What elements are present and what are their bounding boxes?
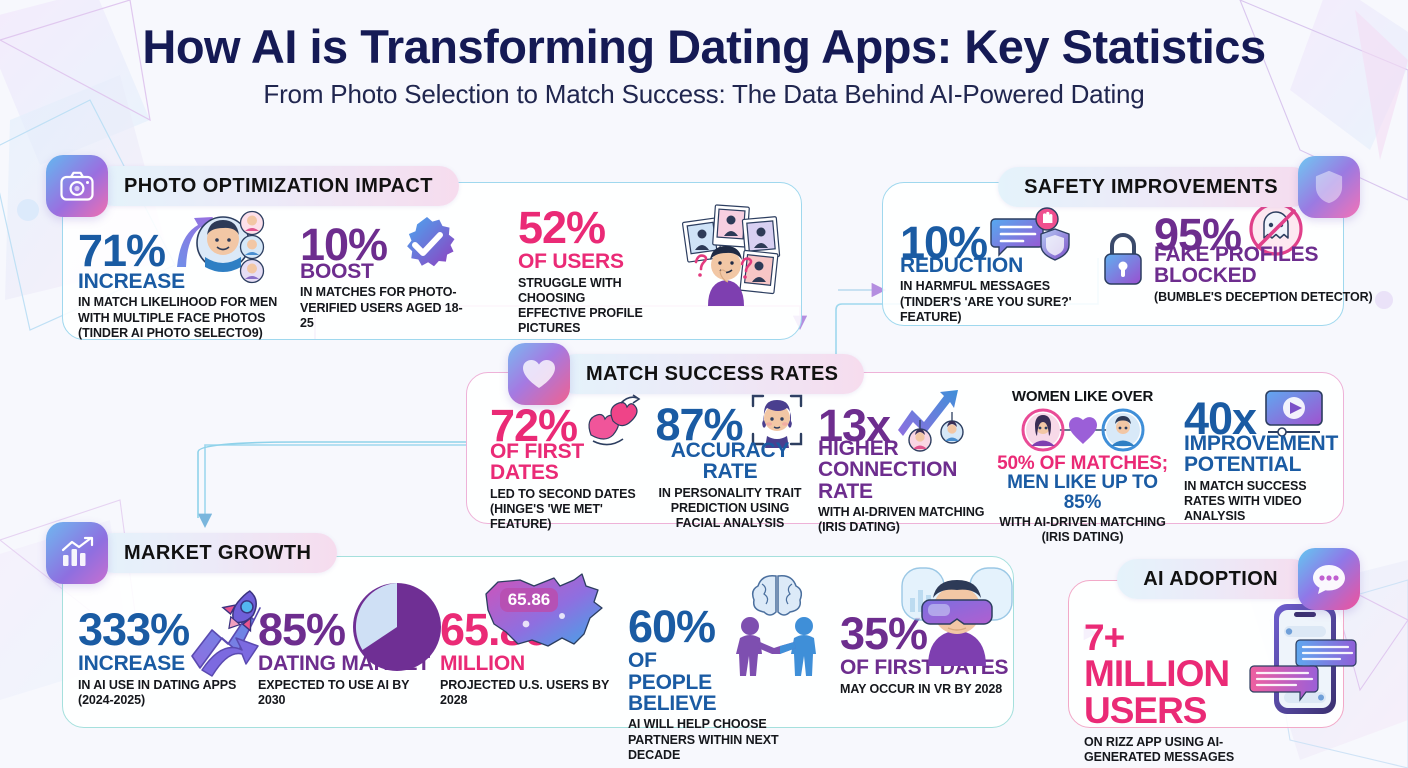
stat-95-fake-profiles-blocked: 95% FAKE PROFILES BLOCKED (BUMBLE'S DECE…: [1100, 212, 1346, 305]
stat-desc-paren: (TINDER'S 'ARE YOU SURE?' FEATURE): [900, 295, 1130, 326]
stat-desc: IN MATCH LIKELIHOOD FOR MEN WITH MULTIPL…: [78, 295, 293, 341]
stat-label: REDUCTION: [900, 255, 1130, 276]
stat-desc-paren: (IRIS DATING): [990, 530, 1175, 545]
confused-person-photos-icon: [650, 202, 780, 307]
stat-13x-connection: 13x HIGHER CONNECTION RATE WITH AI-DRIVE…: [818, 400, 998, 536]
brain-icon: [753, 576, 802, 615]
section-header-safety-improvements[interactable]: SAFETY IMPROVEMENTS: [998, 156, 1360, 218]
stat-value: 71%: [78, 229, 165, 272]
stat-87-accuracy: 87% ACCURACY RATE IN PERSONALITY TRAIT P…: [655, 400, 805, 532]
stat-desc: EXPECTED TO USE AI BY 2030: [258, 678, 423, 709]
stat-desc-text: EXPECTED TO USE AI BY 2030: [258, 678, 409, 707]
stat-desc-text: IN MATCHES FOR PHOTO-VERIFIED USERS AGED…: [300, 285, 463, 330]
stat-desc-paren: (TINDER AI PHOTO SELECTO9): [78, 326, 293, 341]
stat-desc-text: LED TO SECOND DATES: [490, 487, 636, 501]
stat-desc: WITH AI-DRIVEN MATCHING (IRIS DATING): [990, 515, 1175, 546]
handshake-brain-icon: [722, 572, 832, 682]
two-avatars-heart-icon: [1021, 408, 1145, 452]
stat-desc: WITH AI-DRIVEN MATCHING (IRIS DATING): [818, 505, 998, 536]
section-header-match-success-rates[interactable]: MATCH SUCCESS RATES: [508, 343, 864, 405]
stat-72-first-dates: 72% OF FIRST DATES LED TO SECOND DATES (…: [490, 403, 645, 533]
pie-chart-icon: [348, 578, 446, 676]
stat-label: ACCURACY RATE: [655, 440, 805, 483]
stat-desc: IN AI USE IN DATING APPS (2024-2025): [78, 678, 240, 709]
stat-desc: IN MATCHES FOR PHOTO-VERIFIED USERS AGED…: [300, 285, 468, 331]
page-subtitle: From Photo Selection to Match Success: T…: [0, 79, 1408, 110]
section-title-market-growth: MARKET GROWTH: [94, 533, 337, 573]
page-header: How AI is Transforming Dating Apps: Key …: [0, 22, 1408, 110]
stat-desc: LED TO SECOND DATES (HINGE'S 'WE MET' FE…: [490, 487, 645, 533]
phone-chat-icon: [1248, 600, 1358, 718]
section-title-match-success-rates: MATCH SUCCESS RATES: [556, 354, 864, 394]
stat-label: FAKE PROFILES BLOCKED: [1154, 244, 1384, 287]
shield-icon: [1298, 156, 1360, 218]
section-title-ai-adoption: AI ADOPTION: [1117, 559, 1312, 599]
stat-desc: IN PERSONALITY TRAIT PREDICTION USING FA…: [655, 486, 805, 532]
stat-71-increase: 71% INCREASE: [78, 215, 293, 341]
stat-label: MEN LIKE UP TO 85%: [990, 473, 1175, 512]
usa-map-icon: 65.86: [478, 572, 614, 668]
section-title-safety-improvements: SAFETY IMPROVEMENTS: [998, 167, 1312, 207]
stat-desc-text: IN AI USE IN DATING APPS (2024-2025): [78, 678, 236, 707]
stat-52-of-users: 52% OF USERS STRUGGLE WITH CHOOSING EFFE…: [518, 206, 788, 337]
vr-headset-person-icon: [898, 562, 1016, 672]
verified-badge-icon: [397, 215, 457, 275]
stat-7-million-users: 7+ MILLION USERS ON RIZZ APP USING AI-GE…: [1084, 620, 1274, 765]
stat-10-reduction: 10% REDUCTION IN HARMFUL MESSAGES (TINDE…: [900, 215, 1130, 325]
stat-label: BOOST: [300, 261, 490, 282]
page-title: How AI is Transforming Dating Apps: Key …: [0, 22, 1408, 71]
section-title-photo-optimization-impact: PHOTO OPTIMIZATION IMPACT: [94, 166, 459, 206]
stat-desc-text: PROJECTED U.S. USERS BY 2028: [440, 678, 609, 707]
bar-chart-icon: [46, 522, 108, 584]
stat-overline: WOMEN LIKE OVER: [990, 388, 1175, 405]
growth-arrow-avatars-icon: [896, 390, 976, 452]
stat-desc-text: IN MATCH LIKELIHOOD FOR MEN WITH MULTIPL…: [78, 295, 277, 324]
stat-desc-paren: (HINGE'S 'WE MET' FEATURE): [490, 502, 645, 533]
stat-value: 7+ MILLION: [1084, 620, 1274, 691]
stat-desc-text: IN PERSONALITY TRAIT PREDICTION USING FA…: [659, 486, 802, 531]
stat-desc-text: ON RIZZ APP USING AI-GENERATED MESSAGES: [1084, 735, 1234, 764]
stat-desc: STRUGGLE WITH CHOOSING EFFECTIVE PROFILE…: [518, 276, 648, 337]
section-header-photo-optimization-impact[interactable]: PHOTO OPTIMIZATION IMPACT: [46, 155, 459, 217]
stat-desc-text: AI WILL HELP CHOOSE PARTNERS WITHIN NEXT…: [628, 717, 779, 762]
stat-10-boost: 10% BOOST IN MATCHES FOR PHOTO-VERIFIED …: [300, 215, 490, 331]
stat-value: 50% OF MATCHES;: [990, 454, 1175, 473]
map-badge-label: 65.86: [508, 590, 551, 609]
stat-women-like-over: WOMEN LIKE OVER 50% OF MATCHES; MEN LIKE…: [990, 388, 1175, 546]
heart-icon: [508, 343, 570, 405]
section-header-ai-adoption[interactable]: AI ADOPTION: [1117, 548, 1360, 610]
stat-label: USERS: [1084, 693, 1274, 729]
lock-ghost-blocked-icon: [1100, 228, 1148, 290]
stat-desc-paren: (BUMBLE'S DECEPTION DETECTOR): [1154, 290, 1384, 305]
stat-label: IMPROVEMENT POTENTIAL: [1184, 433, 1329, 476]
stat-desc-text: IN MATCH SUCCESS RATES WITH VIDEO ANALYS…: [1184, 479, 1306, 524]
section-header-market-growth[interactable]: MARKET GROWTH: [46, 522, 337, 584]
stat-value: 52%: [518, 206, 648, 249]
chat-bubble-icon: [1298, 548, 1360, 610]
stat-desc-paren: (IRIS DATING): [818, 520, 998, 535]
stat-desc: IN HARMFUL MESSAGES (TINDER'S 'ARE YOU S…: [900, 279, 1130, 325]
stat-desc-text: STRUGGLE WITH CHOOSING EFFECTIVE PROFILE…: [518, 276, 643, 336]
stat-desc-text: IN HARMFUL MESSAGES: [900, 279, 1050, 293]
stat-label: OF USERS: [518, 251, 648, 272]
stat-desc-text: MAY OCCUR IN VR BY 2028: [840, 682, 1002, 696]
map-value-badge: 65.86: [500, 588, 558, 612]
stat-desc: AI WILL HELP CHOOSE PARTNERS WITHIN NEXT…: [628, 717, 823, 763]
stat-desc-text: WITH AI-DRIVEN MATCHING: [999, 515, 1165, 529]
stat-40x-improvement: 40x IMPROVEMENT POTENTIAL IN MATCH SUCCE…: [1184, 395, 1334, 525]
profile-photos-upward-arrow-icon: [171, 209, 266, 287]
stat-desc: MAY OCCUR IN VR BY 2028: [840, 682, 1015, 697]
stat-desc-text: WITH AI-DRIVEN MATCHING: [818, 505, 984, 519]
camera-icon: [46, 155, 108, 217]
stat-desc: PROJECTED U.S. USERS BY 2028: [440, 678, 610, 709]
stat-desc: ON RIZZ APP USING AI-GENERATED MESSAGES: [1084, 735, 1264, 766]
stat-desc: IN MATCH SUCCESS RATES WITH VIDEO ANALYS…: [1184, 479, 1334, 525]
